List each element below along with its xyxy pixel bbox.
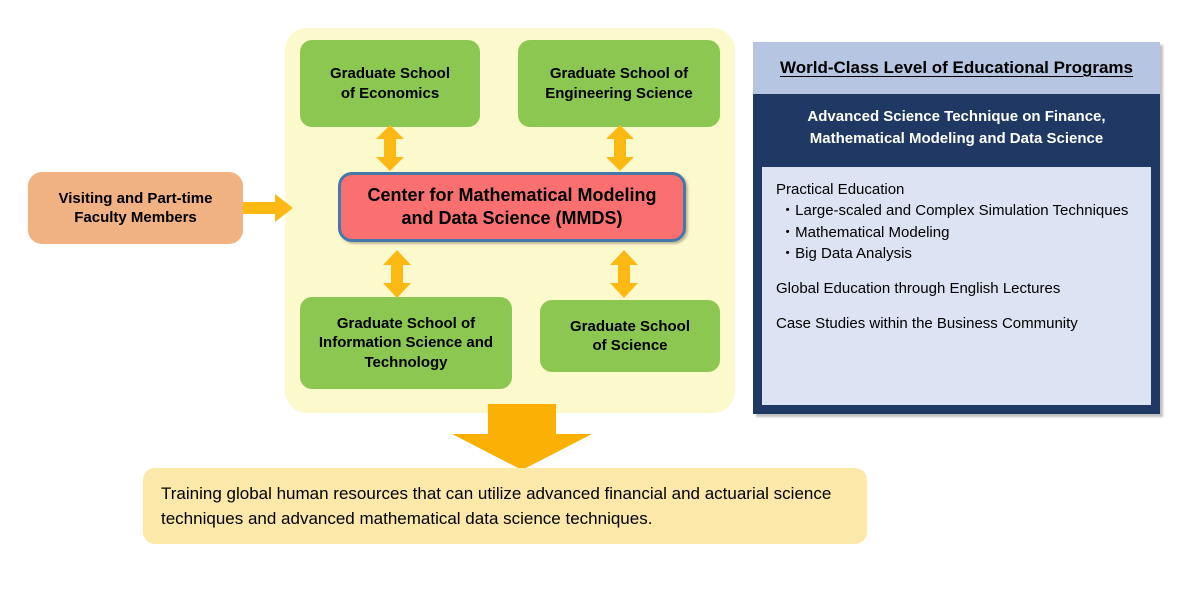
- panel-item-global-education: Global Education through English Lecture…: [776, 278, 1141, 299]
- node-graduate-school-information-science-technology[interactable]: Graduate School of Information Science a…: [300, 297, 512, 389]
- panel-title-band: World-Class Level of Educational Program…: [753, 42, 1160, 94]
- double-arrow-icon-science: [609, 250, 639, 298]
- panel-subtitle: Advanced Science Technique on Finance, M…: [807, 106, 1105, 150]
- down-arrow-icon-outcome: [452, 404, 592, 470]
- outcome-banner-text: Training global human resources that can…: [161, 481, 849, 532]
- node-visiting-part-time-faculty[interactable]: Visiting and Part-time Faculty Members: [28, 172, 243, 244]
- double-arrow-icon-economics: [375, 125, 405, 171]
- outcome-banner: Training global human resources that can…: [143, 468, 867, 544]
- node-center-mmds[interactable]: Center for Mathematical Modeling and Dat…: [338, 172, 686, 242]
- panel-title: World-Class Level of Educational Program…: [780, 58, 1133, 78]
- double-arrow-icon-engineering: [605, 125, 635, 171]
- node-graduate-school-engineering-science[interactable]: Graduate School of Engineering Science: [518, 40, 720, 127]
- panel-body: Practical Education ・Large-scaled and Co…: [762, 167, 1151, 405]
- node-graduate-school-science[interactable]: Graduate School of Science: [540, 300, 720, 372]
- panel-item-practical-education: Practical Education ・Large-scaled and Co…: [776, 179, 1141, 264]
- double-arrow-icon-information-science: [382, 250, 412, 298]
- panel-spacer-2: [776, 299, 1141, 313]
- panel-item-case-studies: Case Studies within the Business Communi…: [776, 313, 1141, 334]
- node-graduate-school-economics[interactable]: Graduate School of Economics: [300, 40, 480, 127]
- educational-programs-panel: World-Class Level of Educational Program…: [753, 42, 1160, 414]
- panel-subtitle-band: Advanced Science Technique on Finance, M…: [753, 94, 1160, 162]
- right-arrow-icon-faculty-input: [243, 194, 293, 222]
- panel-spacer-1: [776, 264, 1141, 278]
